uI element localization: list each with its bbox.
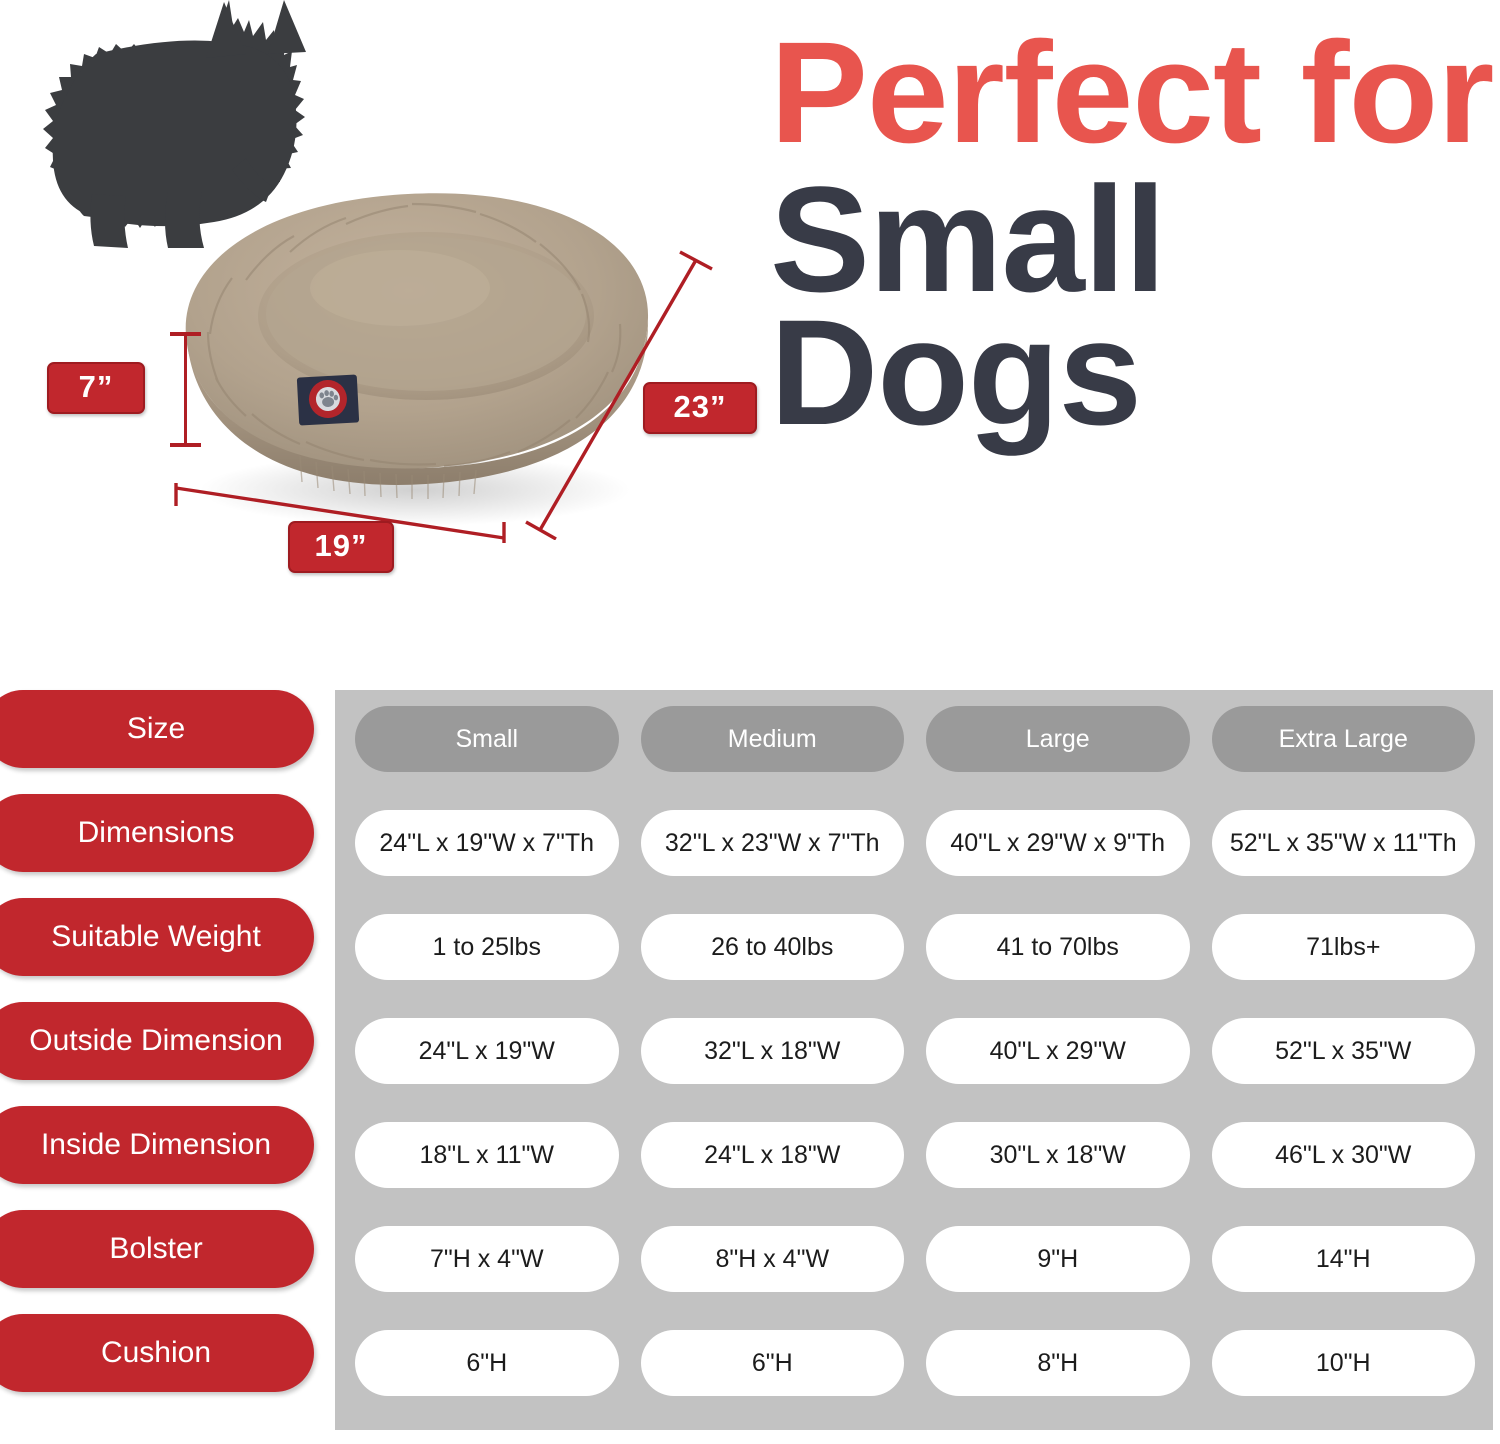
column-header-small: Small: [355, 706, 619, 772]
majestic-pet-logo-tag: [297, 374, 359, 425]
cell-dimensions-extra-large: 52"L x 35"W x 11"Th: [1212, 810, 1476, 876]
column-header-extra-large: Extra Large: [1212, 706, 1476, 772]
cell-bolster-large: 9"H: [926, 1226, 1190, 1292]
height-measure-cap-top: [170, 332, 201, 336]
size-chart-table: Size Dimensions Suitable Weight Outside …: [0, 690, 1500, 1444]
row-label-suitable-weight: Suitable Weight: [0, 898, 314, 976]
row-label-size: Size: [0, 690, 314, 768]
height-measure-badge: 7”: [47, 362, 145, 414]
cell-cushion-medium: 6"H: [641, 1330, 905, 1396]
column-header-large: Large: [926, 706, 1190, 772]
spec-header-row: Small Medium Large Extra Large: [355, 700, 1475, 778]
table-row: 6"H 6"H 8"H 10"H: [355, 1324, 1475, 1402]
cell-outside-dimension-small: 24"L x 19"W: [355, 1018, 619, 1084]
cell-bolster-extra-large: 14"H: [1212, 1226, 1476, 1292]
cell-outside-dimension-medium: 32"L x 18"W: [641, 1018, 905, 1084]
cell-cushion-extra-large: 10"H: [1212, 1330, 1476, 1396]
headline-line-1: Perfect for: [770, 26, 1500, 160]
depth-measure-badge: 23”: [643, 382, 757, 434]
cell-bolster-small: 7"H x 4"W: [355, 1226, 619, 1292]
cell-dimensions-small: 24"L x 19"W x 7"Th: [355, 810, 619, 876]
cell-inside-dimension-large: 30"L x 18"W: [926, 1122, 1190, 1188]
cell-suitable-weight-large: 41 to 70lbs: [926, 914, 1190, 980]
row-label-cushion: Cushion: [0, 1314, 314, 1392]
column-header-medium: Medium: [641, 706, 905, 772]
table-row: 24"L x 19"W x 7"Th 32"L x 23"W x 7"Th 40…: [355, 804, 1475, 882]
cell-suitable-weight-medium: 26 to 40lbs: [641, 914, 905, 980]
row-label-dimensions: Dimensions: [0, 794, 314, 872]
spec-row-label-column: Size Dimensions Suitable Weight Outside …: [0, 690, 314, 1418]
table-row: 24"L x 19"W 32"L x 18"W 40"L x 29"W 52"L…: [355, 1012, 1475, 1090]
cell-inside-dimension-medium: 24"L x 18"W: [641, 1122, 905, 1188]
hero-section: 7” 19” 23” Perfect for Small Dogs: [0, 0, 1500, 660]
table-row: 1 to 25lbs 26 to 40lbs 41 to 70lbs 71lbs…: [355, 908, 1475, 986]
product-infographic: 7” 19” 23” Perfect for Small Dogs: [0, 0, 1500, 1444]
table-row: 18"L x 11"W 24"L x 18"W 30"L x 18"W 46"L…: [355, 1116, 1475, 1194]
width-measure-badge: 19”: [288, 521, 394, 573]
cell-inside-dimension-extra-large: 46"L x 30"W: [1212, 1122, 1476, 1188]
spec-value-grid: Small Medium Large Extra Large 24"L x 19…: [355, 700, 1475, 1428]
cell-cushion-large: 8"H: [926, 1330, 1190, 1396]
table-row: 7"H x 4"W 8"H x 4"W 9"H 14"H: [355, 1220, 1475, 1298]
height-measure-cap-bottom: [170, 443, 201, 447]
cell-outside-dimension-large: 40"L x 29"W: [926, 1018, 1190, 1084]
cell-suitable-weight-small: 1 to 25lbs: [355, 914, 619, 980]
cell-inside-dimension-small: 18"L x 11"W: [355, 1122, 619, 1188]
cell-dimensions-medium: 32"L x 23"W x 7"Th: [641, 810, 905, 876]
cell-outside-dimension-extra-large: 52"L x 35"W: [1212, 1018, 1476, 1084]
height-measure-line: [184, 334, 187, 446]
row-label-outside-dimension: Outside Dimension: [0, 1002, 314, 1080]
cell-cushion-small: 6"H: [355, 1330, 619, 1396]
row-label-bolster: Bolster: [0, 1210, 314, 1288]
row-label-inside-dimension: Inside Dimension: [0, 1106, 314, 1184]
cell-dimensions-large: 40"L x 29"W x 9"Th: [926, 810, 1190, 876]
cell-bolster-medium: 8"H x 4"W: [641, 1226, 905, 1292]
cell-suitable-weight-extra-large: 71lbs+: [1212, 914, 1476, 980]
headline-line-3: Dogs: [770, 303, 1490, 443]
page-title: Perfect for Small Dogs: [770, 26, 1490, 443]
